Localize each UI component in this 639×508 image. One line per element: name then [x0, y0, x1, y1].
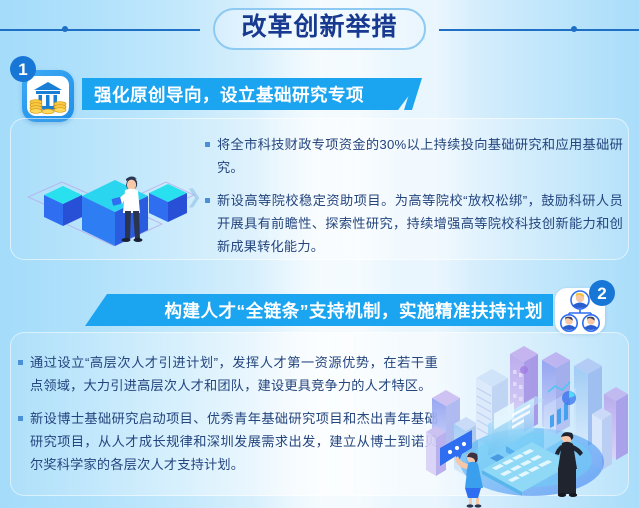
section-2-bullet-1: 通过设立“高层次人才引进计划”，发挥人才第一资源优势，在若干重点领域，大力引进高… [30, 352, 438, 397]
isometric-city-monitor-keyboard-illustration [424, 336, 639, 504]
title-rule-right [439, 29, 639, 31]
section-2-header: 构建人才“全链条”支持机制，实施精准扶持计划 [85, 288, 639, 332]
section-2-bullet-2: 新设博士基础研究启动项目、优秀青年基础研究项目和杰出青年基础研究项目，从人才成长… [30, 408, 438, 476]
bullet-marker-icon [18, 416, 23, 421]
chevron-right-icon: ❯ [186, 186, 202, 209]
section-2-banner: 构建人才“全链条”支持机制，实施精准扶持计划 [85, 294, 553, 326]
page-title-row: 改革创新举措 [0, 0, 639, 58]
title-dot-right-icon [571, 26, 577, 32]
page-title: 改革创新举措 [241, 14, 397, 42]
bullet-marker-icon [205, 198, 210, 203]
section-1-body: 将全市科技财政专项资金的30%以上持续投向基础研究和应用基础研究。 新设高等院校… [205, 134, 623, 270]
list-item: 将全市科技财政专项资金的30%以上持续投向基础研究和应用基础研究。 [205, 134, 623, 179]
infographic-page: 改革创新举措 [0, 0, 639, 508]
title-dot-left-icon [62, 26, 68, 32]
list-item: 新设博士基础研究启动项目、优秀青年基础研究项目和杰出青年基础研究项目，从人才成长… [18, 408, 438, 476]
bullet-marker-icon [18, 360, 23, 365]
list-item: 通过设立“高层次人才引进计划”，发挥人才第一资源优势，在若干重点领域，大力引进高… [18, 352, 438, 397]
section-2-number-badge: 2 [589, 280, 615, 306]
list-item: 新设高等院校稳定资助项目。为高等院校“放权松绑”，鼓励科研人员开展具有前瞻性、探… [205, 190, 623, 258]
section-2-heading: 构建人才“全链条”支持机制，实施精准扶持计划 [165, 298, 554, 323]
page-title-pill: 改革创新举措 [213, 8, 425, 51]
isometric-cubes-person-illustration [16, 150, 206, 265]
section-1-heading: 强化原创导向，设立基础研究专项 [82, 82, 364, 107]
title-rule-left [0, 29, 200, 31]
section-2-body: 通过设立“高层次人才引进计划”，发挥人才第一资源优势，在若干重点领域，大力引进高… [18, 352, 438, 488]
section-1-bullet-2: 新设高等院校稳定资助项目。为高等院校“放权松绑”，鼓励科研人员开展具有前瞻性、探… [217, 190, 623, 258]
section-1-banner: 强化原创导向，设立基础研究专项 [82, 78, 422, 110]
bullet-marker-icon [205, 142, 210, 147]
section-1-number-badge: 1 [10, 56, 36, 82]
section-1-bullet-1: 将全市科技财政专项资金的30%以上持续投向基础研究和应用基础研究。 [217, 134, 623, 179]
section-1-header: 1 强化原创导向，设立基础研究专项 [14, 62, 424, 120]
